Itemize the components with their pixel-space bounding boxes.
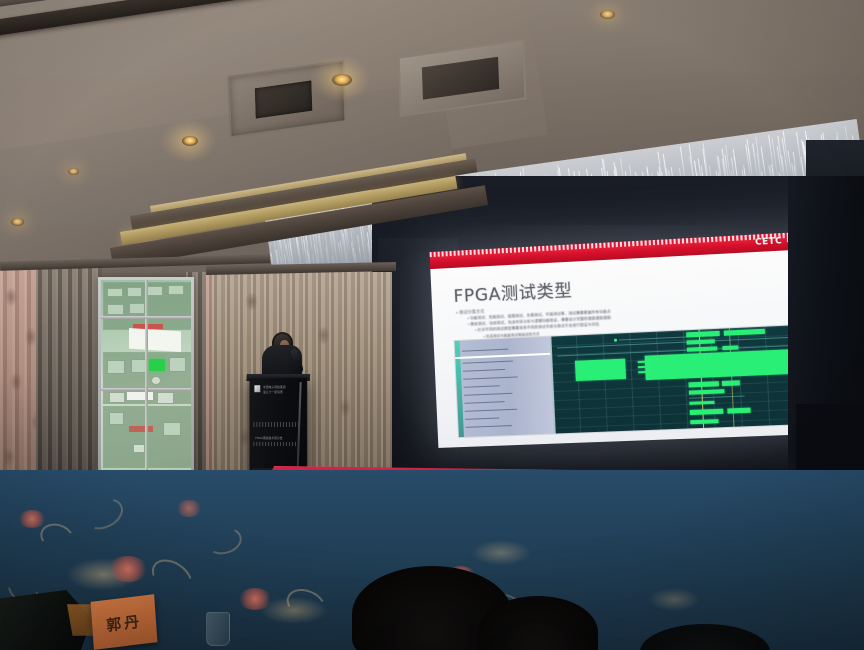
ceiling-downlight-icon <box>182 136 198 146</box>
nameplate: 郭丹 <box>91 594 158 650</box>
building-window <box>129 303 145 314</box>
ac-unit <box>157 392 174 404</box>
drinking-glass <box>206 612 230 646</box>
signal-name-row <box>463 361 513 364</box>
carpet-flower-motif <box>108 556 148 582</box>
red-signboard-lower <box>129 426 153 432</box>
waveform-canvas <box>549 325 805 434</box>
building-window <box>169 357 186 372</box>
ac-unit <box>109 392 125 403</box>
ac-unit-round <box>151 376 161 385</box>
carpet-scroll-motif <box>282 584 330 625</box>
lectern-line-2: 第五十一研究所 <box>263 390 283 394</box>
window-mullion <box>101 316 191 319</box>
waveform-signal-block <box>686 331 719 338</box>
carpet-scroll-motif <box>80 493 128 536</box>
carpet-scroll-motif <box>203 524 244 558</box>
projection-screen: CETC 中国电科 FPGA测试类型 ▪ 测试分类方式 • 功能测试、性能测试、… <box>430 231 835 448</box>
carpet-flower-motif <box>176 500 202 517</box>
waveform-signal-block <box>689 389 725 395</box>
conference-hall-photo: CETC 中国电科 FPGA测试类型 ▪ 测试分类方式 • 功能测试、性能测试、… <box>0 0 864 650</box>
carpet-flower-motif <box>238 588 272 610</box>
signal-name-row <box>462 349 508 352</box>
building-window <box>107 360 125 374</box>
waveform-signal-block <box>724 329 765 336</box>
ceiling-downlight-icon <box>332 74 352 86</box>
building-window <box>147 286 163 296</box>
building-window <box>163 422 181 436</box>
waveform-signal-block <box>728 408 751 414</box>
white-awning <box>129 328 181 352</box>
building-window <box>109 412 124 425</box>
ac-unit <box>133 444 145 453</box>
signal-name-row <box>464 393 512 396</box>
nameplate-text: 郭丹 <box>105 610 142 635</box>
waveform-signal-block <box>722 345 737 350</box>
lectern-logo-icon <box>254 385 260 392</box>
building-window <box>107 304 124 315</box>
slide-title: FPGA测试类型 <box>453 276 573 307</box>
ceiling-downlight-icon <box>11 218 24 226</box>
white-awning-small <box>127 392 153 400</box>
signal-name-row <box>464 401 504 404</box>
waveform-viewer-image <box>454 324 807 438</box>
signal-name-row <box>465 417 499 420</box>
window-glass <box>101 280 191 472</box>
waveform-trace-line <box>689 395 745 398</box>
signal-name-row <box>465 425 511 428</box>
waveform-signal-block <box>687 346 717 351</box>
building-window <box>168 285 184 295</box>
waveform-signal-block <box>690 419 718 424</box>
waveform-signal-block <box>689 381 720 387</box>
signal-name-row <box>463 369 505 372</box>
lectern-text-band <box>253 422 301 427</box>
waveform-signal-block <box>689 401 714 405</box>
waveform-signal-block <box>690 409 723 415</box>
green-signboard <box>149 359 165 371</box>
slide-body: FPGA测试类型 ▪ 测试分类方式 • 功能测试、性能测试、极限测试、负载测试、… <box>430 248 834 448</box>
window-mullion-vertical <box>145 280 148 472</box>
building-window <box>127 287 142 297</box>
red-signboard <box>133 324 163 329</box>
lectern-line-1: 中国电子科技集团 <box>263 385 285 389</box>
signal-name-row <box>463 376 517 380</box>
lectern-text-band <box>253 442 301 446</box>
building-window <box>107 288 123 297</box>
waveform-signal-block <box>687 339 715 344</box>
waveform-signal-block <box>721 380 739 386</box>
signal-name-row <box>465 409 517 412</box>
waveform-marker-icon <box>614 339 617 342</box>
carpet-flower-motif <box>18 510 46 528</box>
waveform-signal-block-large <box>575 359 626 381</box>
lectern-line-3: FPGA测试技术研讨会 <box>255 436 282 440</box>
waveform-signal-name-pane <box>455 337 554 437</box>
ceiling-downlight-icon <box>600 10 615 19</box>
cetc-logo-mark: CETC <box>754 236 784 248</box>
waveform-signal-block-large <box>645 349 793 380</box>
ceiling-downlight-icon <box>68 168 79 175</box>
signal-name-row <box>464 385 500 388</box>
exterior-window <box>98 277 194 475</box>
